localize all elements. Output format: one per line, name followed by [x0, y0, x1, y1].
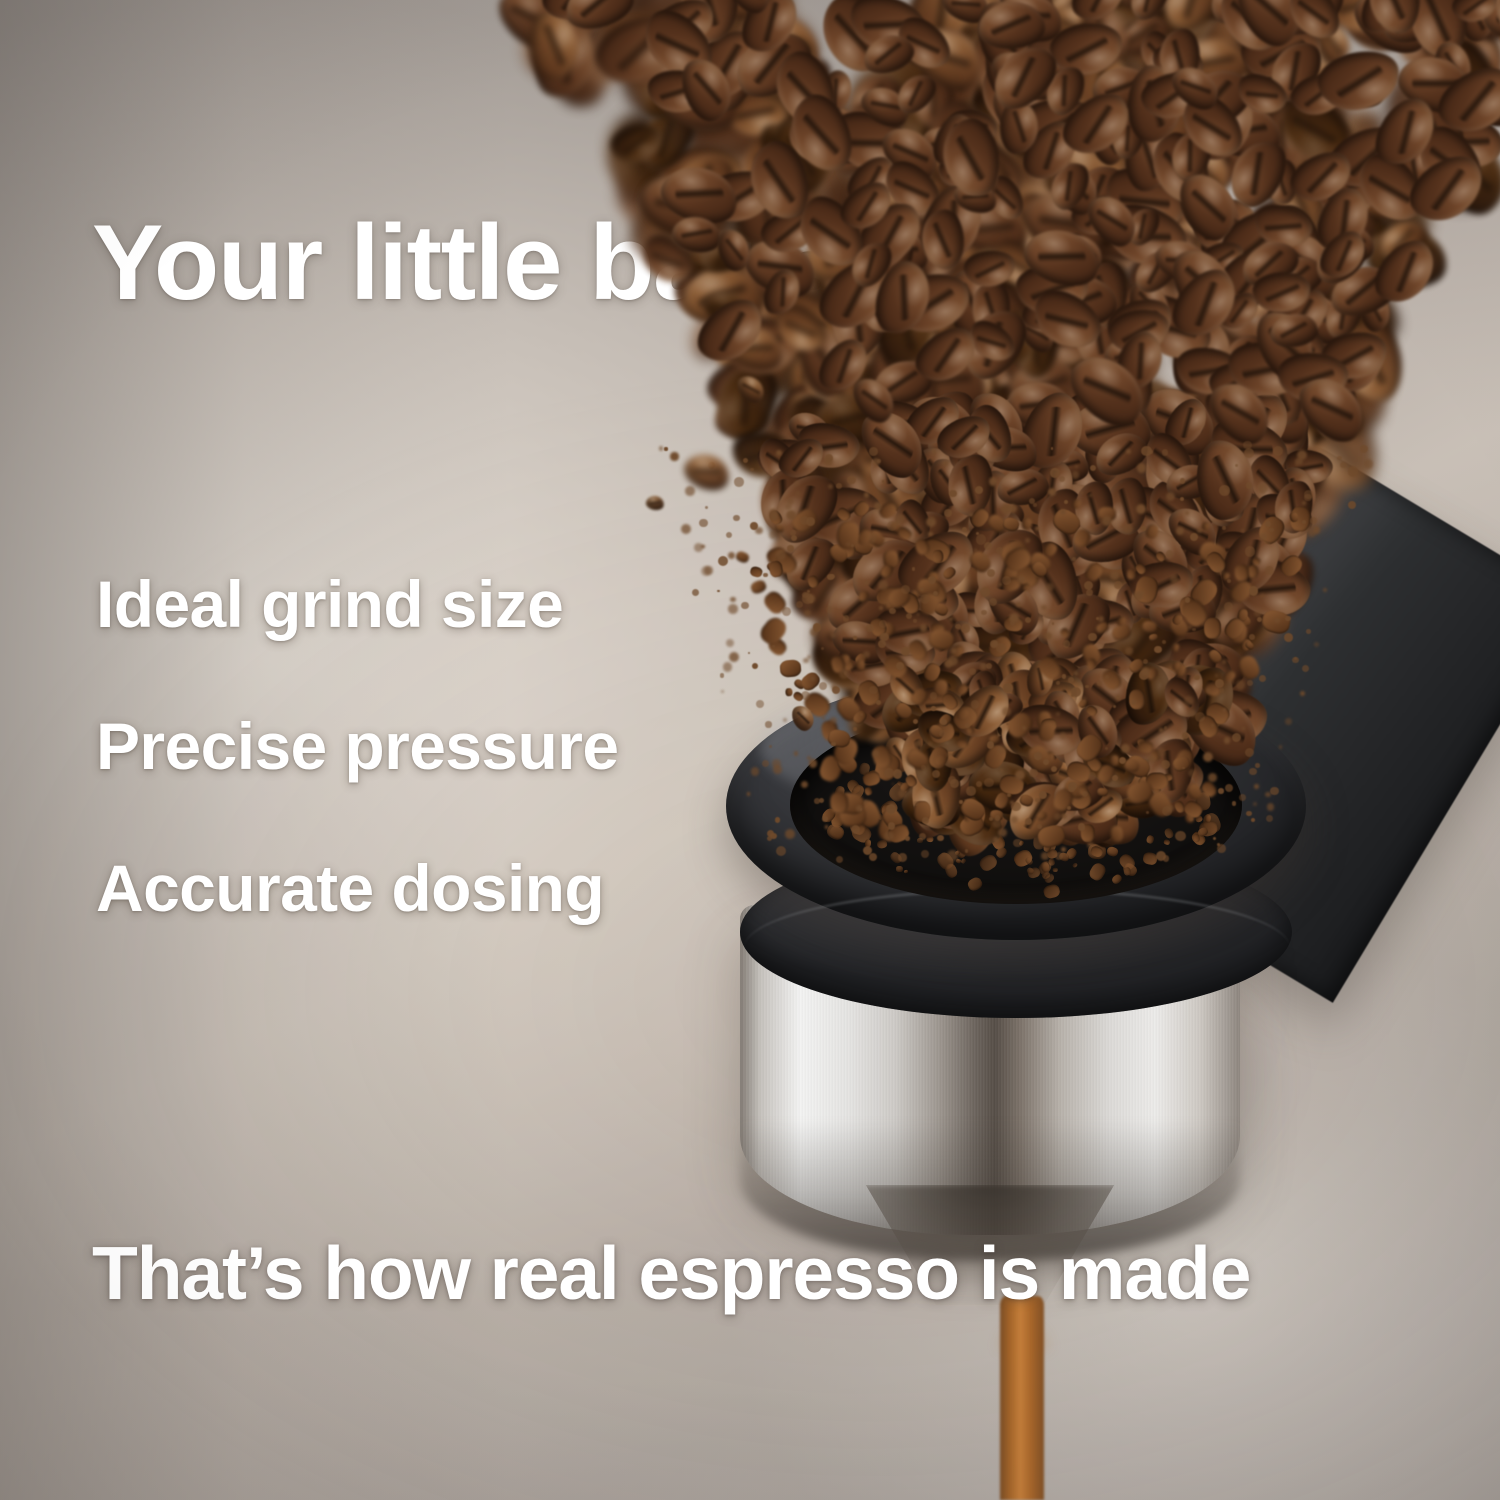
background-vignette: [0, 0, 1500, 1500]
product-marketing-image: Your little barista Ideal grind size Pre…: [0, 0, 1500, 1500]
